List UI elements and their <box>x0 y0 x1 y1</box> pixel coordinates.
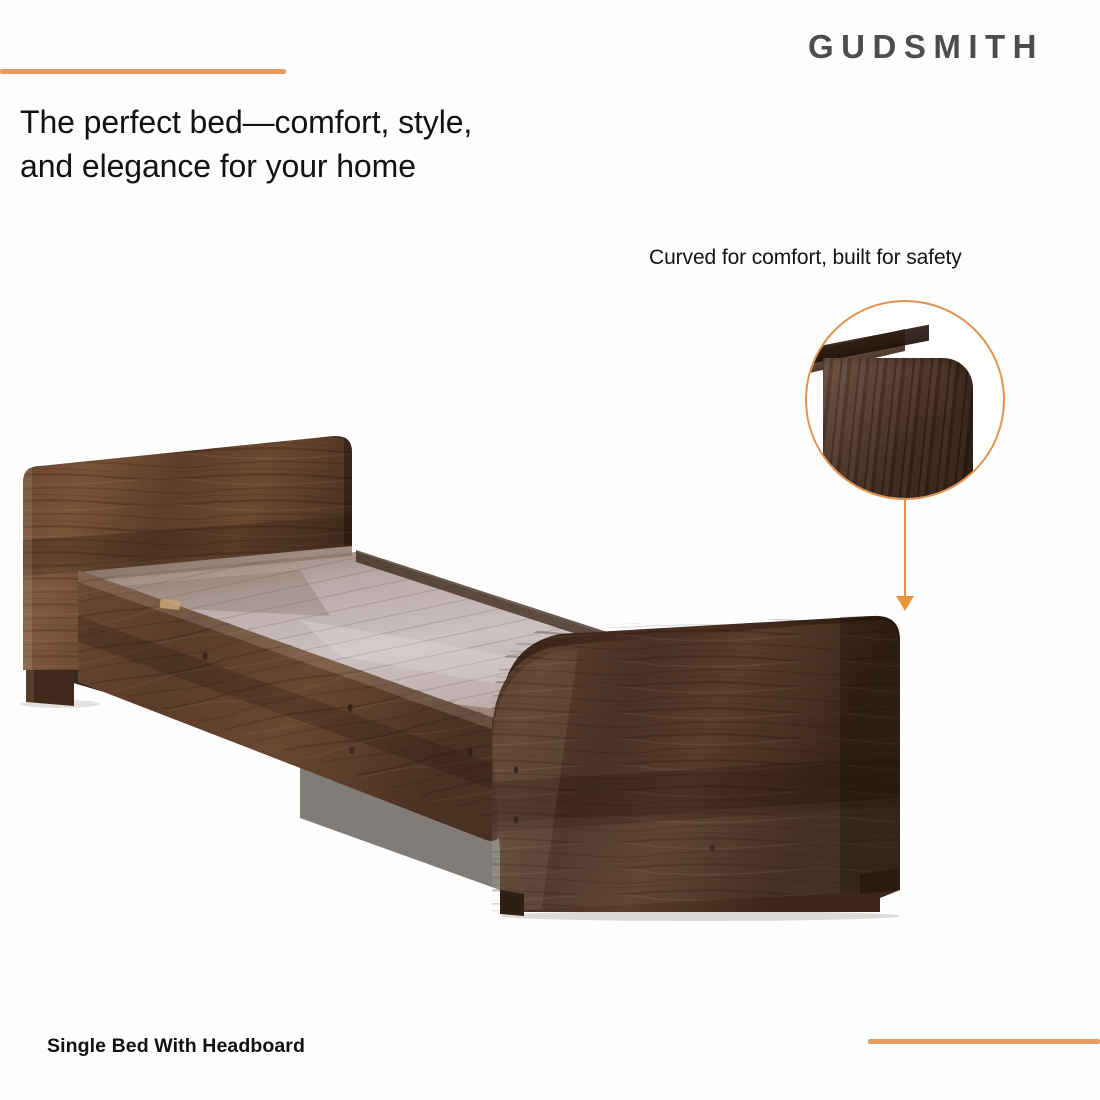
zoom-rounded-corner-detail <box>823 358 973 500</box>
callout-leader-line <box>904 500 906 600</box>
brand-logo: GUDSMITH <box>808 28 1044 66</box>
poster-canvas: GUDSMITH The perfect bed—comfort, style,… <box>0 0 1100 1100</box>
accent-bar-top-left <box>0 69 286 74</box>
product-caption: Single Bed With Headboard <box>47 1035 305 1058</box>
callout-arrow-icon <box>896 596 914 611</box>
headline-line-1: The perfect bed—comfort, style, <box>20 104 472 140</box>
page-title: The perfect bed—comfort, style, and eleg… <box>20 100 660 188</box>
accent-bar-bottom-right <box>868 1039 1100 1044</box>
zoom-callout-circle <box>805 300 1005 500</box>
product-image-bed <box>0 420 1100 960</box>
bed-footboard <box>460 600 940 930</box>
zoom-callout-content <box>805 300 1005 500</box>
headline-line-2: and elegance for your home <box>20 144 660 188</box>
callout-label: Curved for comfort, built for safety <box>649 246 962 270</box>
